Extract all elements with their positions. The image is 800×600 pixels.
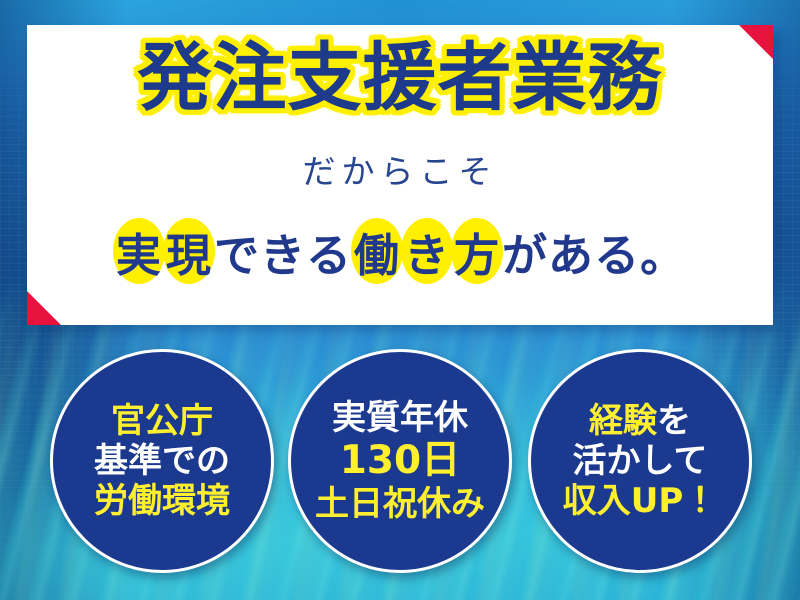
tagline-char-3: で xyxy=(214,219,260,284)
circle-3-line-1-part-2: を xyxy=(657,401,691,441)
tagline-char-4: き xyxy=(260,219,306,284)
tagline-char-1: 実 xyxy=(114,219,164,284)
subtitle-text: だからこそ xyxy=(303,145,498,193)
feature-circle-group: 官公庁 基準での 労働環境 実質年休 130日 土日祝休み 経験を 活かして 収… xyxy=(0,345,800,580)
tagline-char-7: き xyxy=(402,219,452,284)
circle-1-line-3: 労働環境 xyxy=(94,481,230,521)
circle-3-line-2: 活かして xyxy=(573,441,708,481)
poster-root: 発注支援者業務 だからこそ 実現できる働き方がある。 官公庁 基準での 労働環境… xyxy=(0,0,800,600)
tagline-char-2: 現 xyxy=(164,219,214,284)
tagline-char-12: 。 xyxy=(640,219,686,284)
circle-1-line-2: 基準での xyxy=(94,441,230,481)
circle-3-line-1: 経験を xyxy=(589,401,691,441)
page-title: 発注支援者業務 xyxy=(138,39,663,119)
circle-2-line-1: 実質年休 xyxy=(332,398,468,438)
feature-circle-govt-standard-workplace[interactable]: 官公庁 基準での 労働環境 xyxy=(50,349,274,573)
headline-card: 発注支援者業務 だからこそ 実現できる働き方がある。 xyxy=(27,25,773,325)
feature-circle-experience-income-up[interactable]: 経験を 活かして 収入UP！ xyxy=(528,349,752,573)
tagline-text: 実現できる働き方がある。 xyxy=(114,219,686,284)
tagline-char-10: あ xyxy=(548,219,594,284)
circle-3-line-1-part-1: 経験 xyxy=(589,401,657,441)
headline-card-content: 発注支援者業務 だからこそ 実現できる働き方がある。 xyxy=(27,25,773,325)
circle-2-line-2: 130日 xyxy=(340,438,460,484)
tagline-char-5: る xyxy=(306,219,352,284)
tagline-char-6: 働 xyxy=(352,219,402,284)
circle-2-line-3: 土日祝休み xyxy=(315,484,485,524)
circle-1-line-1: 官公庁 xyxy=(111,401,213,441)
tagline-char-9: が xyxy=(502,219,548,284)
tagline-char-8: 方 xyxy=(452,219,502,284)
feature-circle-annual-holidays[interactable]: 実質年休 130日 土日祝休み xyxy=(288,349,512,573)
tagline-char-11: る xyxy=(594,219,640,284)
circle-3-line-3: 収入UP！ xyxy=(563,481,718,521)
